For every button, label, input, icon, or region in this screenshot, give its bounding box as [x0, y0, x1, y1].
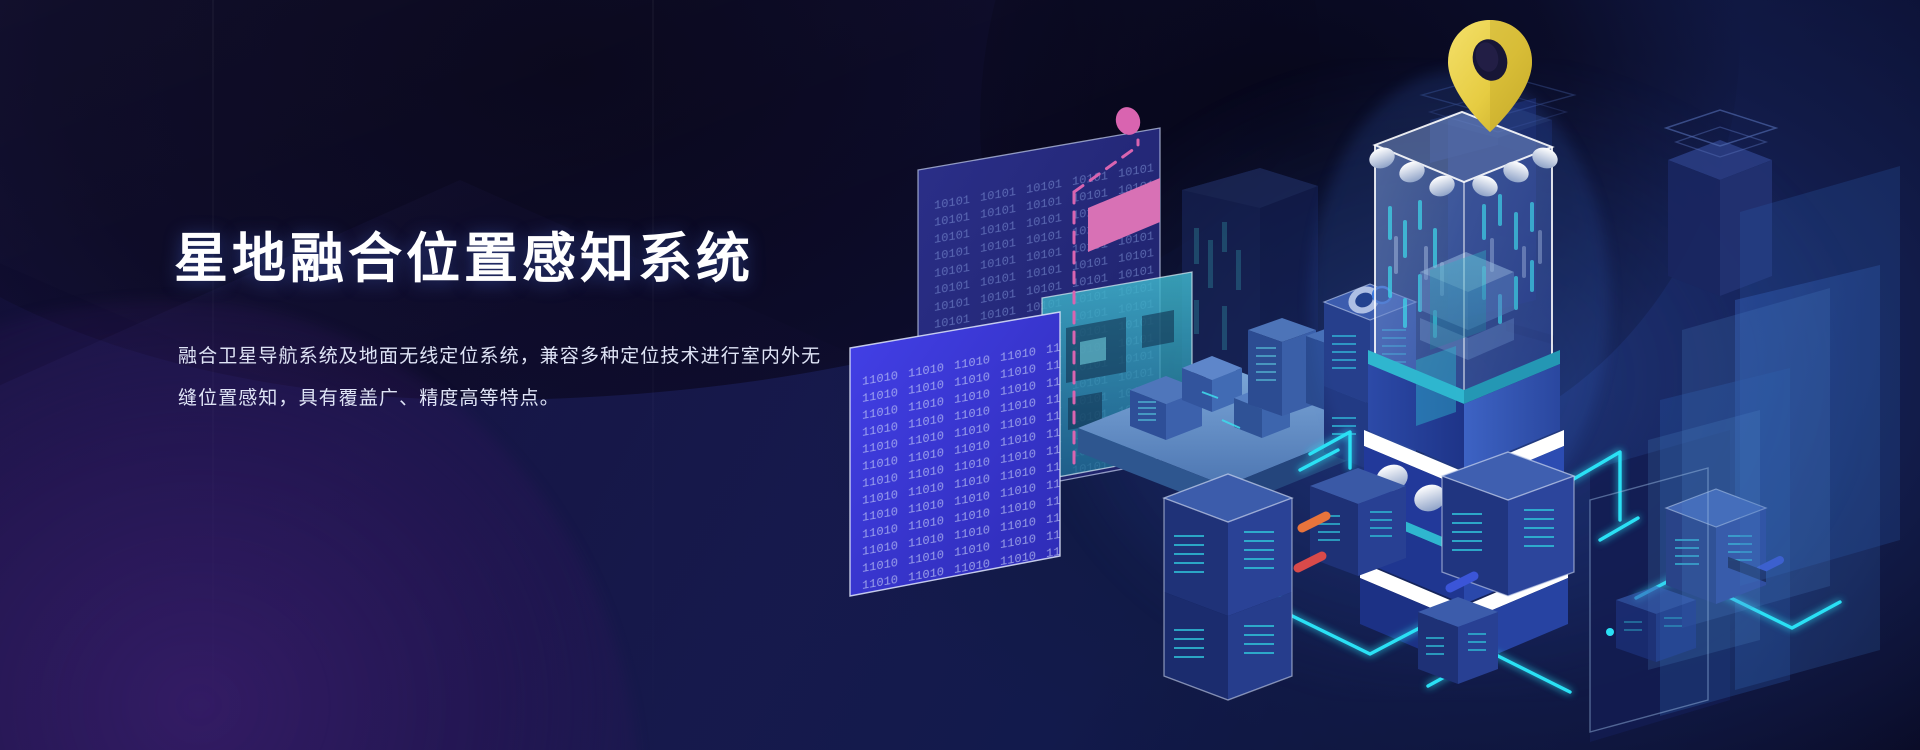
hero-banner: 星地融合位置感知系统 融合卫星导航系统及地面无线定位系统，兼容多种定位技术进行室… — [0, 0, 1920, 750]
page-title: 星地融合位置感知系统 — [174, 228, 874, 292]
hero-description: 融合卫星导航系统及地面无线定位系统，兼容多种定位技术进行室内外无缝位置感知，具有… — [178, 336, 838, 422]
hero-copy: 星地融合位置感知系统 融合卫星导航系统及地面无线定位系统，兼容多种定位技术进行室… — [174, 228, 874, 421]
lower-right-hardware — [1616, 586, 1696, 662]
binary-data-panel-front — [850, 312, 1082, 612]
isometric-illustration: 10101 11010 — [830, 0, 1920, 750]
